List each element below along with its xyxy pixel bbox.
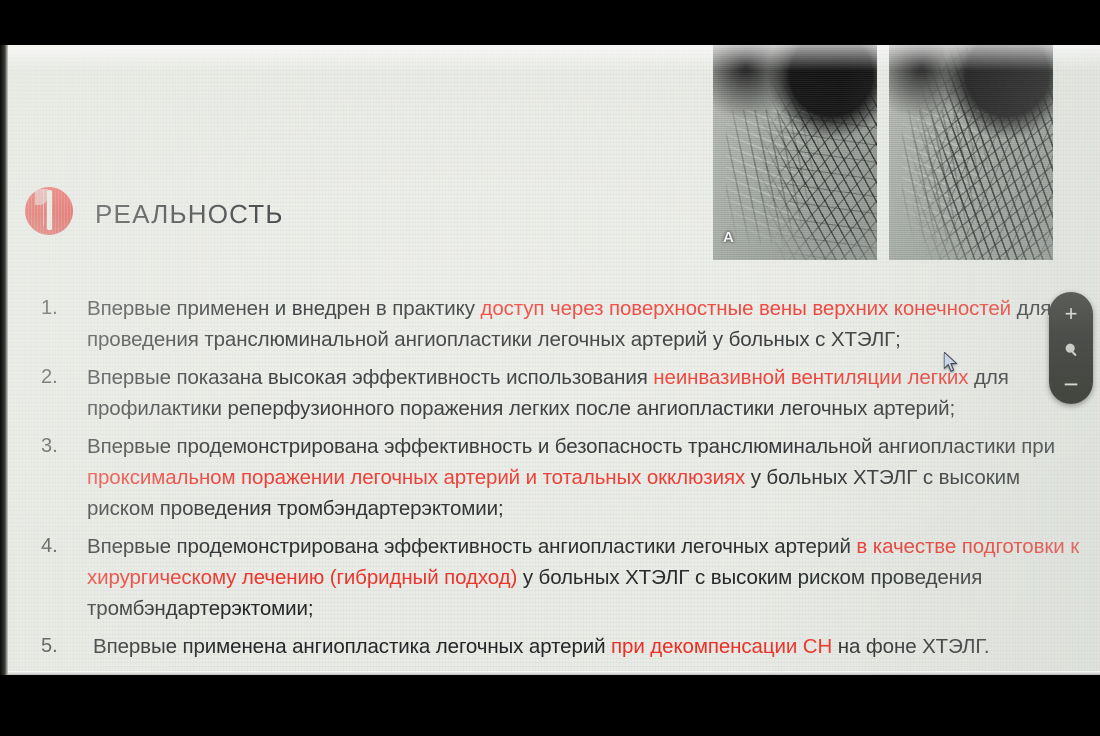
list-item-text: Впервые продемонстрирована эффективность…: [87, 431, 1080, 524]
list-item: 5. Впервые применена ангиопластика легоч…: [25, 631, 1080, 662]
angiography-panel-b: [889, 45, 1053, 260]
list-item-text: Впервые применен и внедрен в практику до…: [87, 293, 1080, 355]
highlight-phrase: неинвазивной вентиляции легких: [653, 366, 968, 389]
screen-left-bezel: [0, 45, 8, 675]
list-item-number: 5.: [25, 631, 87, 662]
list-item-text: Впервые применена ангиопластика легочных…: [87, 631, 1080, 662]
list-item-text: Впервые продемонстрирована эффективность…: [87, 531, 1080, 624]
list-item: 1. Впервые применен и внедрен в практику…: [25, 293, 1080, 355]
list-item-number: 3.: [25, 431, 87, 462]
pulmonary-angiography-figure: A: [713, 45, 1053, 260]
list-item: 4. Впервые продемонстрирована эффективно…: [25, 531, 1080, 624]
slide-content: Реальность 1. Впервые применен и внедрен…: [7, 45, 1100, 675]
highlight-phrase: доступ через поверхностные вены верхних …: [480, 297, 1011, 320]
screen-photo-frame: Реальность 1. Впервые применен и внедрен…: [0, 0, 1100, 736]
slide-header: Реальность: [25, 187, 284, 235]
presentation-slide: Реальность 1. Впервые применен и внедрен…: [7, 45, 1100, 675]
zoom-in-icon[interactable]: +: [1058, 301, 1084, 327]
red-circle-logo-icon: [25, 187, 73, 235]
list-item: 3. Впервые продемонстрирована эффективно…: [25, 431, 1080, 524]
conclusions-list: 1. Впервые применен и внедрен в практику…: [25, 293, 1080, 669]
panel-label: A: [723, 229, 734, 246]
list-item: 2. Впервые показана высокая эффективност…: [25, 362, 1080, 424]
highlight-phrase: проксимальном поражении легочных артерий…: [87, 466, 745, 489]
list-item-number: 1.: [25, 293, 87, 324]
page-title: Реальность: [95, 190, 284, 232]
magnifier-icon[interactable]: [1058, 336, 1084, 362]
zoom-out-icon[interactable]: −: [1058, 371, 1084, 397]
list-item-number: 4.: [25, 531, 87, 562]
zoom-control-widget[interactable]: + −: [1049, 292, 1093, 404]
highlight-phrase: при декомпенсации СН: [611, 635, 832, 658]
angiography-panel-a: A: [713, 45, 877, 260]
list-item-number: 2.: [25, 362, 87, 393]
list-item-text: Впервые показана высокая эффективность и…: [87, 362, 1080, 424]
